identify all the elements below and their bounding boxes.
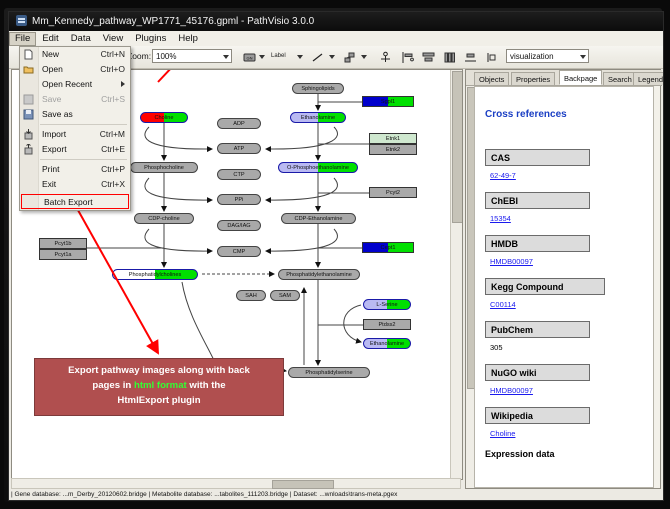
gene-node[interactable]: Sgpl1 — [362, 96, 414, 107]
file-menu-open-recent-label: Open Recent — [42, 79, 92, 89]
visualization-combo[interactable]: visualization — [506, 49, 589, 63]
pathway-node-label: Sphingolipids — [293, 86, 343, 92]
pathway-node-label: Choline — [141, 115, 187, 121]
stack-icon[interactable] — [462, 49, 479, 66]
file-menu-open-label: Open — [42, 64, 63, 74]
callout-line-1: Export pathway images along with back — [35, 363, 283, 378]
pathway-node[interactable]: Phosphatidylserine — [288, 367, 370, 378]
gene-node[interactable]: Etnk2 — [369, 144, 417, 155]
canvas-vscroll-thumb[interactable] — [452, 71, 463, 223]
menu-plugins[interactable]: Plugins — [129, 32, 172, 46]
new-file-icon — [23, 49, 34, 60]
gene-node-label: Ptdss2 — [364, 322, 410, 328]
file-menu-save-as-label: Save as — [42, 109, 73, 119]
pathvisio-window: Mm_Kennedy_pathway_WP1771_45176.gpml - P… — [8, 11, 664, 501]
file-menu-dropdown: New Ctrl+N Open Ctrl+O Open Recent Save — [19, 46, 131, 211]
file-menu-separator-2 — [40, 159, 127, 160]
menu-edit[interactable]: Edit — [36, 32, 64, 46]
xref-label-hmdb: HMDB — [485, 235, 590, 252]
xref-value-wikipedia[interactable]: Choline — [490, 429, 515, 438]
pathway-node[interactable]: CMP — [217, 246, 261, 257]
file-menu-open[interactable]: Open Ctrl+O — [20, 62, 130, 77]
gene-node[interactable]: Pcyt2 — [369, 187, 417, 198]
svg-text:GN: GN — [247, 56, 253, 61]
pathway-node-label: CDP-choline — [135, 216, 193, 222]
pathway-node-label: CTP — [218, 172, 260, 178]
pathway-node[interactable]: CDP-Ethanolamine — [281, 213, 356, 224]
align-center-icon[interactable] — [420, 49, 437, 66]
tab-properties[interactable]: Properties — [511, 72, 555, 85]
zoom-combo[interactable]: 100% — [152, 49, 232, 63]
status-bar: | Gene database: ...m_Derby_20120602.bri… — [11, 490, 661, 499]
shape-dropdown-icon[interactable] — [361, 55, 367, 59]
pathway-node-label: L-Serine — [364, 302, 410, 308]
pathway-node-label: PPi — [218, 197, 260, 203]
pathway-node[interactable]: O-Phosphoethanolamine — [278, 162, 358, 173]
pathway-node[interactable]: Phosphatidylethanolamine — [278, 269, 360, 280]
gene-node-label: Etnk1 — [370, 136, 416, 142]
align-left-icon[interactable] — [399, 49, 416, 66]
callout-line-3: HtmlExport plugin — [35, 393, 283, 408]
file-menu-new[interactable]: New Ctrl+N — [20, 47, 130, 62]
file-menu-new-shortcut: Ctrl+N — [101, 47, 125, 62]
pathvisio-icon — [16, 15, 27, 26]
gene-node-label: Sgpl1 — [363, 99, 413, 105]
menu-data[interactable]: Data — [65, 32, 97, 46]
canvas-horizontal-scrollbar[interactable] — [11, 478, 461, 489]
menu-help[interactable]: Help — [172, 32, 204, 46]
pathway-node-label: ADP — [218, 121, 260, 127]
save-as-icon — [23, 109, 34, 120]
file-menu-import-shortcut: Ctrl+M — [100, 127, 125, 142]
file-menu-exit[interactable]: Exit Ctrl+X — [20, 177, 130, 192]
file-menu-save-shortcut: Ctrl+S — [101, 92, 125, 107]
pathway-node[interactable]: CTP — [217, 169, 261, 180]
pathway-node[interactable]: Ethanolamine — [290, 112, 346, 123]
gene-node[interactable]: Pcyt1b — [39, 238, 87, 249]
chevron-down-icon — [223, 55, 229, 59]
menu-bar: FileEditDataViewPluginsHelp — [9, 31, 663, 47]
file-menu-batch-export-label: Batch Export — [44, 197, 93, 207]
pathway-node[interactable]: L-Serine — [363, 299, 411, 310]
gene-node[interactable]: Ptdss2 — [363, 319, 411, 330]
file-menu-exit-shortcut: Ctrl+X — [101, 177, 125, 192]
gene-node[interactable]: Etnk1 — [369, 133, 417, 144]
group-icon[interactable] — [483, 49, 500, 66]
file-menu-export-shortcut: Ctrl+E — [101, 142, 125, 157]
line-dropdown-icon[interactable] — [329, 55, 335, 59]
import-icon — [23, 129, 34, 140]
callout-line-2-a: pages in — [92, 380, 134, 391]
pathway-node[interactable]: SAH — [236, 290, 266, 301]
xref-label-wikipedia: Wikipedia — [485, 407, 590, 424]
xref-label-pubchem: PubChem — [485, 321, 590, 338]
pathway-node-label: Phosphatidylcholines — [113, 272, 197, 278]
gene-node[interactable]: Cept1 — [362, 242, 414, 253]
tab-legend[interactable]: Legend — [633, 72, 664, 85]
pathway-node-label: O-Phosphoethanolamine — [279, 165, 357, 171]
line-icon[interactable] — [309, 49, 326, 66]
shape-icon[interactable] — [341, 49, 358, 66]
tab-objects[interactable]: Objects — [474, 72, 509, 85]
pathway-node-label: CDP-Ethanolamine — [282, 216, 355, 222]
callout-line-2-b: with the — [187, 380, 226, 391]
label-tool-label[interactable]: Label — [271, 48, 286, 65]
anchor-icon[interactable] — [377, 49, 394, 66]
align-distribute-icon[interactable] — [441, 49, 458, 66]
pathway-node[interactable]: ATP — [217, 143, 261, 154]
file-menu-import[interactable]: Import Ctrl+M — [20, 127, 130, 142]
pathway-node-label: CMP — [218, 249, 260, 255]
pathway-node[interactable]: Phosphatidylcholines — [112, 269, 198, 280]
pathway-node[interactable]: Sphingolipids — [292, 83, 344, 94]
title-bar: Mm_Kennedy_pathway_WP1771_45176.gpml - P… — [9, 12, 663, 31]
pathway-node[interactable]: Choline — [140, 112, 188, 123]
tab-backpage[interactable]: Backpage — [559, 70, 602, 85]
menu-file[interactable]: File — [9, 32, 36, 46]
side-panel-scrollbar[interactable] — [466, 86, 474, 488]
zoom-value: 100% — [156, 52, 176, 61]
save-icon — [23, 94, 34, 105]
file-menu-export-label: Export — [42, 144, 67, 154]
xref-value-hmdb[interactable]: HMDB00097 — [490, 257, 533, 266]
file-menu-exit-label: Exit — [42, 179, 56, 189]
xref-value-kegg[interactable]: C00114 — [490, 300, 516, 309]
menu-view[interactable]: View — [97, 32, 129, 46]
datanode-icon[interactable]: GN — [241, 49, 258, 66]
file-menu-export[interactable]: Export Ctrl+E — [20, 142, 130, 157]
label-dropdown-icon[interactable] — [297, 55, 303, 59]
file-menu-batch-export[interactable]: Batch Export — [21, 194, 129, 209]
xref-value-cas[interactable]: 62-49-7 — [490, 171, 516, 180]
file-menu-save: Save Ctrl+S — [20, 92, 130, 107]
pathway-node-label: Phosphatidylethanolamine — [279, 272, 359, 278]
file-menu-open-recent[interactable]: Open Recent — [20, 77, 130, 92]
gene-node[interactable]: Pcyt1a — [39, 249, 87, 260]
file-menu-print[interactable]: Print Ctrl+P — [20, 162, 130, 177]
pathway-node-label: SAM — [271, 293, 299, 299]
pathway-node[interactable]: CDP-choline — [134, 213, 194, 224]
xref-label-cas: CAS — [485, 149, 590, 166]
gene-node-label: Pcyt1b — [40, 241, 86, 247]
submenu-arrow-icon — [121, 81, 125, 87]
pathway-node-label: Ethanolamine — [291, 115, 345, 121]
xref-label-chebi: ChEBI — [485, 192, 590, 209]
window-title: Mm_Kennedy_pathway_WP1771_45176.gpml - P… — [32, 16, 314, 27]
file-menu-new-label: New — [42, 49, 59, 59]
tab-search[interactable]: Search — [603, 72, 637, 85]
file-menu-open-shortcut: Ctrl+O — [100, 62, 125, 77]
expression-data-heading: Expression data — [485, 449, 555, 459]
callout-line-2: pages in html format with the — [35, 378, 283, 393]
pathway-node[interactable]: PPi — [217, 194, 261, 205]
xref-label-kegg: Kegg Compound — [485, 278, 605, 295]
pathway-node-label: ATP — [218, 146, 260, 152]
file-menu-import-label: Import — [42, 129, 66, 139]
pathway-node-label: Phosphatidylserine — [289, 370, 369, 376]
canvas-vertical-scrollbar[interactable] — [450, 70, 462, 479]
pathway-node-label: DAG/IAG — [218, 223, 260, 229]
file-menu-print-shortcut: Ctrl+P — [101, 162, 125, 177]
file-menu-save-as[interactable]: Save as — [20, 107, 130, 122]
gene-node-label: Cept1 — [363, 245, 413, 251]
gene-node-label: Pcyt2 — [370, 190, 416, 196]
gene-node-label: Etnk2 — [370, 147, 416, 153]
pathway-node-label: Ethanolamine — [364, 341, 410, 347]
pathway-node[interactable]: Ethanolamine — [363, 338, 411, 349]
xref-value-pubchem: 305 — [490, 343, 503, 352]
pathway-node[interactable]: SAM — [270, 290, 300, 301]
pathway-node-label: Phosphocholine — [131, 165, 197, 171]
gene-node-label: Pcyt1a — [40, 252, 86, 258]
xref-value-chebi[interactable]: 15354 — [490, 214, 511, 223]
xref-value-nugo[interactable]: HMDB00097 — [490, 386, 533, 395]
file-menu-save-label: Save — [42, 94, 61, 104]
side-panel: Objects Properties Backpage Search Legen… — [465, 69, 661, 489]
pathway-node[interactable]: ADP — [217, 118, 261, 129]
canvas-hscroll-thumb[interactable] — [272, 480, 334, 489]
annotation-callout: Export pathway images along with back pa… — [34, 358, 284, 416]
cross-references-heading: Cross references — [485, 109, 567, 120]
pathway-node[interactable]: Phosphocholine — [130, 162, 198, 173]
chevron-down-icon — [580, 55, 586, 59]
pathway-node-label: SAH — [237, 293, 265, 299]
outer-frame: Mm_Kennedy_pathway_WP1771_45176.gpml - P… — [0, 0, 670, 509]
pathway-node[interactable]: DAG/IAG — [217, 220, 261, 231]
folder-icon — [23, 64, 34, 75]
side-panel-tabs: Objects Properties Backpage Search Legen… — [466, 70, 662, 86]
xref-label-nugo: NuGO wiki — [485, 364, 590, 381]
file-menu-separator-1 — [40, 124, 127, 125]
datanode-dropdown-icon[interactable] — [259, 55, 265, 59]
file-menu-print-label: Print — [42, 164, 59, 174]
visualization-value: visualization — [510, 52, 554, 61]
backpage-content: Cross references CAS 62-49-7 ChEBI 15354… — [474, 86, 654, 488]
export-icon — [23, 144, 34, 155]
callout-highlight: html format — [134, 380, 187, 391]
